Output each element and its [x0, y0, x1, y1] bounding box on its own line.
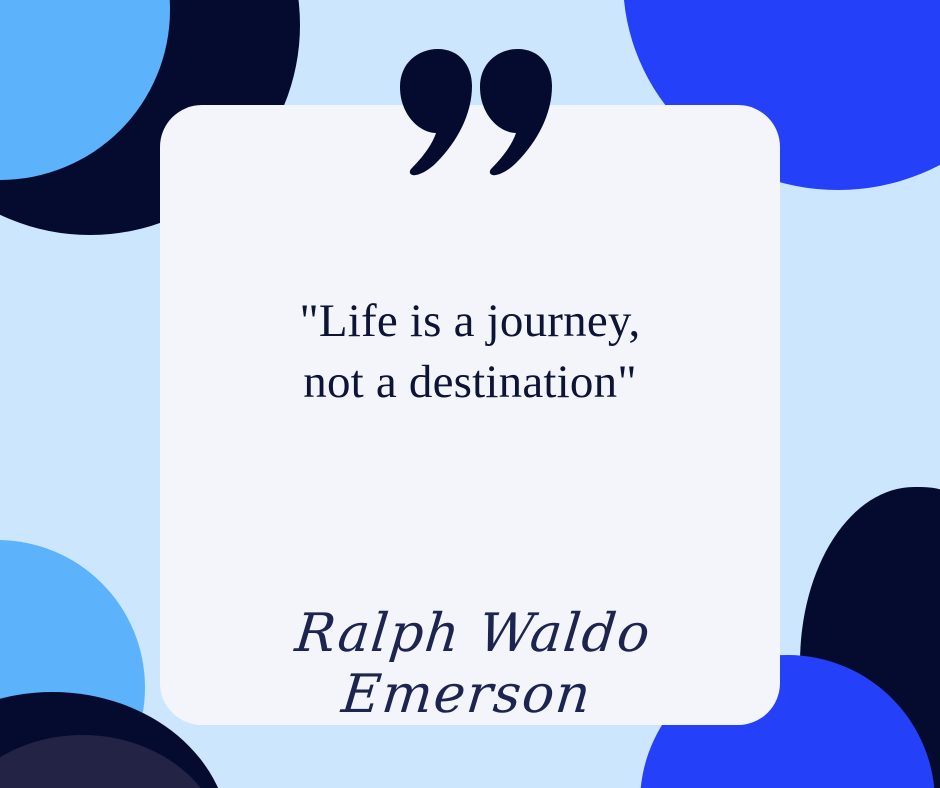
author-signature: Ralph Waldo Emerson — [154, 603, 787, 725]
quote-text: "Life is a journey, not a destination" — [160, 291, 780, 412]
quotation-mark-icon — [392, 47, 552, 177]
quote-poster: "Life is a journey, not a destination" R… — [0, 0, 940, 788]
quote-card: "Life is a journey, not a destination" R… — [160, 105, 780, 725]
